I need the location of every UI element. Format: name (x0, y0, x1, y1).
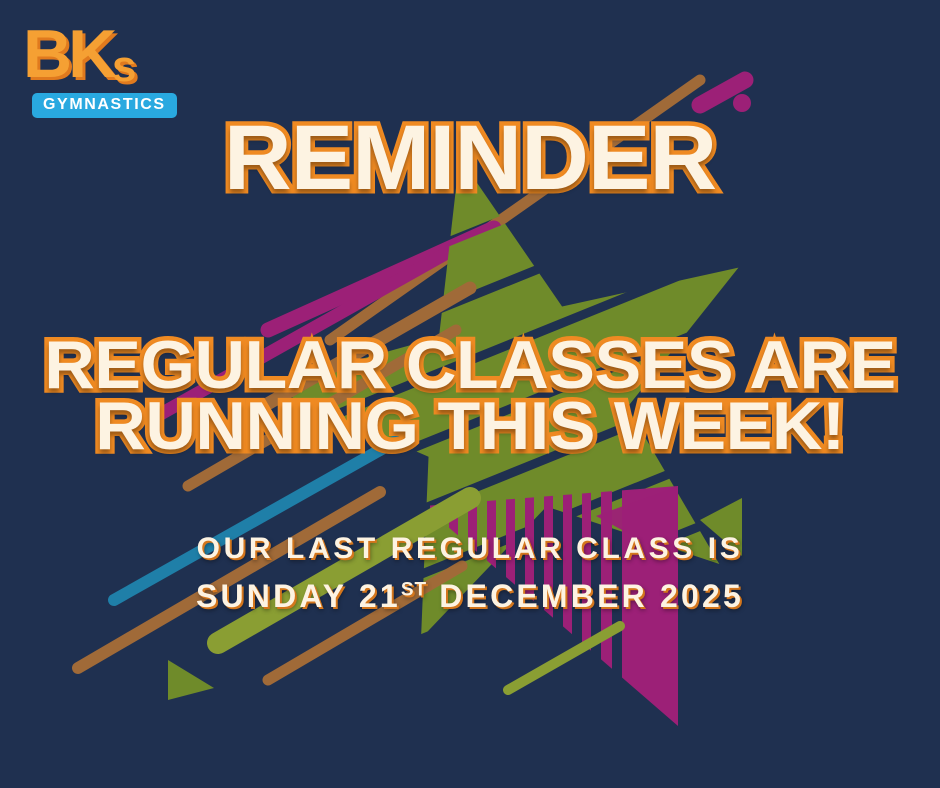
message-line-2: RUNNING THIS WEEK! (0, 392, 940, 460)
page-title: REMINDER (0, 112, 940, 204)
date-ordinal-suffix: ST (401, 579, 427, 600)
date-prefix: SUNDAY 21 (196, 578, 401, 614)
poster-canvas: BK s BK s GYMNASTICS REMINDER REGULAR CL… (0, 0, 940, 788)
subtext-line-2: SUNDAY 21ST DECEMBER 2025 (0, 580, 940, 612)
date-suffix: DECEMBER 2025 (427, 578, 744, 614)
text-layer: REMINDER REGULAR CLASSES ARE RUNNING THI… (0, 0, 940, 788)
subtext-line-1: OUR LAST REGULAR CLASS IS (0, 534, 940, 564)
